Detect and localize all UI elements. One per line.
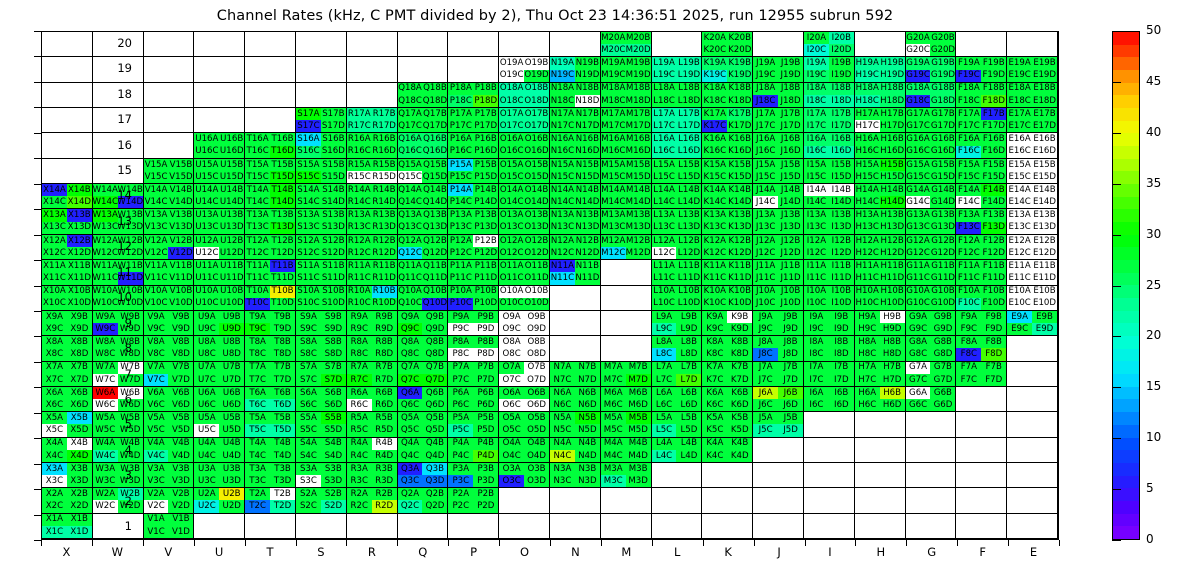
pmt-quadrant[interactable]: P10C — [448, 298, 473, 310]
pmt-quadrant[interactable]: X3B — [67, 463, 92, 475]
pmt-cell[interactable]: H17AH17BH17CH17D — [855, 108, 906, 133]
pmt-quadrant[interactable]: Q17D — [422, 120, 447, 132]
pmt-quadrant[interactable]: F9D — [981, 323, 1006, 335]
pmt-quadrant[interactable]: S14B — [321, 184, 346, 196]
pmt-quadrant[interactable]: H6D — [880, 399, 905, 411]
pmt-quadrant[interactable]: Q11B — [422, 260, 447, 272]
pmt-quadrant[interactable]: J14B — [778, 184, 803, 196]
pmt-quadrant[interactable]: O13D — [524, 222, 549, 234]
pmt-quadrant[interactable]: X9B — [67, 311, 92, 323]
pmt-quadrant[interactable]: X6C — [42, 399, 67, 411]
pmt-quadrant[interactable]: V11A — [144, 260, 169, 272]
pmt-cell[interactable]: O17AO17BO17CO17D — [499, 108, 550, 133]
pmt-quadrant[interactable]: G7A — [906, 362, 931, 374]
pmt-quadrant[interactable]: X8C — [42, 348, 67, 360]
pmt-quadrant[interactable]: N5C — [550, 424, 575, 436]
pmt-quadrant[interactable]: S3A — [296, 463, 321, 475]
pmt-quadrant[interactable]: M6B — [626, 387, 651, 399]
pmt-quadrant[interactable]: X10A — [42, 286, 67, 298]
pmt-quadrant[interactable]: J11C — [753, 272, 778, 284]
pmt-cell[interactable]: J14AJ14BJ14CJ14D — [753, 184, 804, 209]
pmt-quadrant[interactable]: T9C — [245, 323, 270, 335]
pmt-quadrant[interactable]: K17B — [727, 108, 752, 120]
pmt-quadrant[interactable]: K4C — [702, 450, 727, 462]
pmt-quadrant[interactable]: M13A — [601, 209, 626, 221]
pmt-cell[interactable]: O13AO13BO13CO13D — [499, 209, 550, 234]
pmt-cell[interactable]: S10AS10BS10CS10D — [296, 286, 347, 311]
pmt-quadrant[interactable]: I12C — [804, 247, 829, 259]
pmt-quadrant[interactable]: N12D — [575, 247, 600, 259]
pmt-quadrant[interactable]: E13C — [1007, 222, 1032, 234]
pmt-quadrant[interactable]: N18C — [550, 95, 575, 107]
pmt-quadrant[interactable]: M14B — [626, 184, 651, 196]
pmt-quadrant[interactable]: G14A — [906, 184, 931, 196]
pmt-quadrant[interactable]: R12B — [372, 235, 397, 247]
pmt-quadrant[interactable]: E13A — [1007, 209, 1032, 221]
pmt-cell[interactable]: L17AL17BL17CL17D — [652, 108, 703, 133]
pmt-quadrant[interactable]: F13B — [981, 209, 1006, 221]
pmt-quadrant[interactable]: L11A — [652, 260, 677, 272]
pmt-quadrant[interactable]: M15A — [601, 159, 626, 171]
pmt-quadrant[interactable]: U16C — [194, 146, 219, 158]
pmt-cell[interactable]: F12AF12BF12CF12D — [956, 235, 1007, 260]
pmt-cell[interactable]: P11AP11BP11CP11D — [448, 260, 499, 285]
pmt-quadrant[interactable]: U7C — [194, 374, 219, 386]
pmt-quadrant[interactable]: E15B — [1032, 159, 1057, 171]
pmt-cell[interactable]: S7AS7BS7CS7D — [296, 362, 347, 387]
pmt-quadrant[interactable]: J18A — [753, 83, 778, 95]
pmt-cell[interactable]: R11AR11BR11CR11D — [347, 260, 398, 285]
pmt-quadrant[interactable]: E9A — [1007, 311, 1032, 323]
pmt-cell[interactable]: M19AM19BM19CM19D — [601, 57, 652, 82]
pmt-quadrant[interactable]: K9B — [727, 311, 752, 323]
pmt-quadrant[interactable]: S6D — [321, 399, 346, 411]
pmt-quadrant[interactable]: T11B — [270, 260, 295, 272]
pmt-quadrant[interactable]: S6B — [321, 387, 346, 399]
pmt-cell[interactable]: U16AU16BU16CU16D — [194, 133, 245, 158]
pmt-quadrant[interactable]: I20C — [804, 44, 829, 56]
pmt-quadrant[interactable]: M20D — [626, 44, 651, 56]
pmt-quadrant[interactable]: P3C — [448, 475, 473, 487]
pmt-quadrant[interactable]: L14B — [676, 184, 701, 196]
pmt-quadrant[interactable]: G8B — [930, 336, 955, 348]
pmt-quadrant[interactable]: F17B — [981, 108, 1006, 120]
pmt-quadrant[interactable]: F7A — [956, 362, 981, 374]
pmt-quadrant[interactable]: V8C — [144, 348, 169, 360]
pmt-quadrant[interactable]: R13D — [372, 222, 397, 234]
pmt-quadrant[interactable]: R16B — [372, 133, 397, 145]
pmt-cell[interactable]: O8AO8BO8CO8D — [499, 336, 550, 361]
pmt-quadrant[interactable]: R6C — [347, 399, 372, 411]
pmt-quadrant[interactable]: V12C — [144, 247, 169, 259]
pmt-quadrant[interactable]: G10B — [930, 286, 955, 298]
pmt-quadrant[interactable]: X1D — [67, 526, 92, 538]
pmt-quadrant[interactable]: K4B — [727, 438, 752, 450]
pmt-quadrant[interactable]: M17D — [626, 120, 651, 132]
pmt-cell[interactable]: L10AL10BL10CL10D — [652, 286, 703, 311]
pmt-quadrant[interactable]: J14C — [753, 196, 778, 208]
pmt-cell[interactable]: L5AL5BL5CL5D — [652, 412, 703, 437]
pmt-cell[interactable]: V7AV7BV7CV7D — [144, 362, 195, 387]
pmt-quadrant[interactable]: E9D — [1032, 323, 1057, 335]
pmt-quadrant[interactable]: H8A — [855, 336, 880, 348]
pmt-quadrant[interactable]: M7D — [626, 374, 651, 386]
pmt-cell[interactable]: T13AT13BT13CT13D — [245, 209, 296, 234]
pmt-quadrant[interactable]: I15D — [829, 171, 854, 183]
pmt-quadrant[interactable]: V11C — [144, 272, 169, 284]
pmt-quadrant[interactable]: R3D — [372, 475, 397, 487]
pmt-quadrant[interactable]: N19D — [575, 70, 600, 82]
pmt-quadrant[interactable]: K12C — [702, 247, 727, 259]
pmt-cell[interactable]: H19AH19BH19CH19D — [855, 57, 906, 82]
pmt-quadrant[interactable]: X7A — [42, 362, 67, 374]
pmt-quadrant[interactable]: P8A — [448, 336, 473, 348]
pmt-cell[interactable]: L9AL9BL9CL9D — [652, 311, 703, 336]
pmt-cell[interactable]: I12AI12BI12CI12D — [804, 235, 855, 260]
pmt-cell[interactable]: Q9AQ9BQ9CQ9D — [398, 311, 449, 336]
pmt-quadrant[interactable]: U8A — [194, 336, 219, 348]
pmt-quadrant[interactable]: P2B — [473, 488, 498, 500]
pmt-quadrant[interactable]: J6B — [778, 387, 803, 399]
pmt-quadrant[interactable]: L4D — [676, 450, 701, 462]
pmt-quadrant[interactable]: V4C — [144, 450, 169, 462]
pmt-quadrant[interactable]: T13D — [270, 222, 295, 234]
pmt-quadrant[interactable]: E12B — [1032, 235, 1057, 247]
pmt-quadrant[interactable]: U14D — [219, 196, 244, 208]
pmt-cell[interactable]: T9AT9BT9CT9D — [245, 311, 296, 336]
pmt-quadrant[interactable]: K14A — [702, 184, 727, 196]
pmt-quadrant[interactable]: O10D — [524, 298, 549, 310]
pmt-quadrant[interactable]: K15C — [702, 171, 727, 183]
pmt-cell[interactable]: V8AV8BV8CV8D — [144, 336, 195, 361]
pmt-quadrant[interactable]: P14B — [473, 184, 498, 196]
pmt-quadrant[interactable]: S12C — [296, 247, 321, 259]
pmt-quadrant[interactable]: S6C — [296, 399, 321, 411]
pmt-cell[interactable]: H6AH6BH6CH6D — [855, 387, 906, 412]
pmt-quadrant[interactable]: X6B — [67, 387, 92, 399]
pmt-quadrant[interactable]: F14C — [956, 196, 981, 208]
pmt-quadrant[interactable]: M13B — [626, 209, 651, 221]
pmt-quadrant[interactable]: M6C — [601, 399, 626, 411]
pmt-quadrant[interactable]: T13A — [245, 209, 270, 221]
pmt-quadrant[interactable]: N4D — [575, 450, 600, 462]
pmt-quadrant[interactable]: V6D — [168, 399, 193, 411]
pmt-quadrant[interactable]: O4A — [499, 438, 524, 450]
pmt-quadrant[interactable]: X5B — [67, 412, 92, 424]
pmt-quadrant[interactable]: R11B — [372, 260, 397, 272]
pmt-cell[interactable]: X3AX3BX3CX3D — [42, 463, 93, 488]
pmt-quadrant[interactable]: M12D — [626, 247, 651, 259]
pmt-quadrant[interactable]: T8D — [270, 348, 295, 360]
pmt-quadrant[interactable]: P3B — [473, 463, 498, 475]
pmt-quadrant[interactable]: L11B — [676, 260, 701, 272]
pmt-quadrant[interactable]: X9D — [67, 323, 92, 335]
pmt-quadrant[interactable]: J7A — [753, 362, 778, 374]
pmt-quadrant[interactable]: V4B — [168, 438, 193, 450]
pmt-cell[interactable]: Q4AQ4BQ4CQ4D — [398, 438, 449, 463]
pmt-quadrant[interactable]: N14C — [550, 196, 575, 208]
pmt-quadrant[interactable]: Q9B — [422, 311, 447, 323]
pmt-cell[interactable]: S6AS6BS6CS6D — [296, 387, 347, 412]
pmt-quadrant[interactable]: P5B — [473, 412, 498, 424]
pmt-cell[interactable]: V15AV15BV15CV15D — [144, 159, 195, 184]
pmt-quadrant[interactable]: O17C — [499, 120, 524, 132]
pmt-cell[interactable]: Q18AQ18BQ18CQ18D — [398, 83, 449, 108]
pmt-quadrant[interactable]: H11C — [855, 272, 880, 284]
pmt-quadrant[interactable]: I19D — [829, 70, 854, 82]
pmt-quadrant[interactable]: P6A — [448, 387, 473, 399]
pmt-quadrant[interactable]: K15B — [727, 159, 752, 171]
pmt-quadrant[interactable]: U5B — [219, 412, 244, 424]
pmt-quadrant[interactable]: T5A — [245, 412, 270, 424]
pmt-quadrant[interactable]: L7A — [652, 362, 677, 374]
pmt-quadrant[interactable]: Q3B — [422, 463, 447, 475]
pmt-quadrant[interactable]: F13A — [956, 209, 981, 221]
pmt-cell[interactable]: E12AE12BE12CE12D — [1007, 235, 1058, 260]
pmt-quadrant[interactable]: T6B — [270, 387, 295, 399]
pmt-quadrant[interactable]: L15A — [652, 159, 677, 171]
pmt-quadrant[interactable]: R16C — [347, 146, 372, 158]
pmt-quadrant[interactable]: U14A — [194, 184, 219, 196]
pmt-quadrant[interactable]: O11B — [524, 260, 549, 272]
pmt-quadrant[interactable]: L8C — [652, 348, 677, 360]
pmt-quadrant[interactable]: F19D — [981, 70, 1006, 82]
pmt-quadrant[interactable]: Q4A — [398, 438, 423, 450]
pmt-quadrant[interactable]: S15A — [296, 159, 321, 171]
pmt-quadrant[interactable]: L6A — [652, 387, 677, 399]
pmt-quadrant[interactable]: V13C — [144, 222, 169, 234]
pmt-quadrant[interactable]: P6D — [473, 399, 498, 411]
pmt-quadrant[interactable]: E12D — [1032, 247, 1057, 259]
pmt-quadrant[interactable]: E11D — [1032, 272, 1057, 284]
pmt-quadrant[interactable]: Q15C — [398, 171, 423, 183]
pmt-quadrant[interactable]: L7D — [676, 374, 701, 386]
pmt-quadrant[interactable]: R7C — [347, 374, 372, 386]
pmt-cell[interactable]: G7AG7BG7CG7D — [906, 362, 957, 387]
pmt-quadrant[interactable]: Q10B — [422, 286, 447, 298]
pmt-quadrant[interactable]: K9C — [702, 323, 727, 335]
pmt-quadrant[interactable]: N17C — [550, 120, 575, 132]
pmt-quadrant[interactable]: M4C — [601, 450, 626, 462]
pmt-quadrant[interactable]: I14C — [804, 196, 829, 208]
pmt-quadrant[interactable]: U15C — [194, 171, 219, 183]
pmt-quadrant[interactable]: O6A — [499, 387, 524, 399]
pmt-quadrant[interactable]: K5B — [727, 412, 752, 424]
pmt-quadrant[interactable]: P7A — [448, 362, 473, 374]
pmt-cell[interactable]: G18AG18BG18CG18D — [906, 83, 957, 108]
pmt-quadrant[interactable]: P9C — [448, 323, 473, 335]
pmt-quadrant[interactable]: T16B — [270, 133, 295, 145]
pmt-quadrant[interactable]: N5A — [550, 412, 575, 424]
pmt-quadrant[interactable]: G13D — [930, 222, 955, 234]
pmt-quadrant[interactable]: K20B — [727, 32, 752, 44]
pmt-quadrant[interactable]: L19C — [652, 70, 677, 82]
pmt-quadrant[interactable]: J17D — [778, 120, 803, 132]
pmt-quadrant[interactable]: L17D — [676, 120, 701, 132]
pmt-quadrant[interactable]: J18D — [778, 95, 803, 107]
pmt-quadrant[interactable]: X3C — [42, 475, 67, 487]
pmt-quadrant[interactable]: I18D — [829, 95, 854, 107]
pmt-quadrant[interactable]: R10A — [347, 286, 372, 298]
pmt-quadrant[interactable]: O12D — [524, 247, 549, 259]
pmt-quadrant[interactable]: F19A — [956, 57, 981, 69]
pmt-quadrant[interactable]: H14B — [880, 184, 905, 196]
pmt-cell[interactable]: I15AI15BI15CI15D — [804, 159, 855, 184]
pmt-quadrant[interactable]: K14D — [727, 196, 752, 208]
pmt-quadrant[interactable]: O5C — [499, 424, 524, 436]
pmt-quadrant[interactable]: F18A — [956, 83, 981, 95]
pmt-quadrant[interactable]: I14D — [829, 196, 854, 208]
pmt-quadrant[interactable]: Q9A — [398, 311, 423, 323]
pmt-cell[interactable]: T10AT10BT10CT10D — [245, 286, 296, 311]
pmt-quadrant[interactable]: T11A — [245, 260, 270, 272]
pmt-quadrant[interactable]: L5C — [652, 424, 677, 436]
pmt-quadrant[interactable]: Q7A — [398, 362, 423, 374]
pmt-quadrant[interactable]: H14A — [855, 184, 880, 196]
pmt-quadrant[interactable]: L16A — [652, 133, 677, 145]
pmt-quadrant[interactable]: N3D — [575, 475, 600, 487]
pmt-quadrant[interactable]: J6A — [753, 387, 778, 399]
pmt-quadrant[interactable]: S5B — [321, 412, 346, 424]
pmt-quadrant[interactable]: G15A — [906, 159, 931, 171]
pmt-quadrant[interactable]: J17C — [753, 120, 778, 132]
pmt-quadrant[interactable]: N17D — [575, 120, 600, 132]
pmt-quadrant[interactable]: K5A — [702, 412, 727, 424]
pmt-quadrant[interactable]: K6B — [727, 387, 752, 399]
pmt-quadrant[interactable]: U4D — [219, 450, 244, 462]
pmt-cell[interactable]: S3AS3BS3CS3D — [296, 463, 347, 488]
pmt-cell[interactable]: G17AG17BG17CG17D — [906, 108, 957, 133]
pmt-quadrant[interactable]: R12C — [347, 247, 372, 259]
pmt-quadrant[interactable]: S16D — [321, 146, 346, 158]
pmt-quadrant[interactable]: P12C — [448, 247, 473, 259]
pmt-quadrant[interactable]: V12A — [144, 235, 169, 247]
pmt-quadrant[interactable]: T7B — [270, 362, 295, 374]
pmt-quadrant[interactable]: Q11D — [422, 272, 447, 284]
pmt-quadrant[interactable]: Q12D — [422, 247, 447, 259]
pmt-quadrant[interactable]: F17C — [956, 120, 981, 132]
pmt-quadrant[interactable]: P8B — [473, 336, 498, 348]
pmt-quadrant[interactable]: Q4D — [422, 450, 447, 462]
pmt-quadrant[interactable]: V4A — [144, 438, 169, 450]
pmt-quadrant[interactable]: R17B — [372, 108, 397, 120]
pmt-cell[interactable]: M17AM17BM17CM17D — [601, 108, 652, 133]
pmt-quadrant[interactable]: K8C — [702, 348, 727, 360]
pmt-quadrant[interactable]: J11A — [753, 260, 778, 272]
pmt-quadrant[interactable]: N16A — [550, 133, 575, 145]
pmt-quadrant[interactable]: H12A — [855, 235, 880, 247]
pmt-quadrant[interactable]: X2D — [67, 500, 92, 512]
pmt-quadrant[interactable]: P7B — [473, 362, 498, 374]
pmt-quadrant[interactable]: M3D — [626, 475, 651, 487]
pmt-quadrant[interactable]: Q6A — [398, 387, 423, 399]
pmt-quadrant[interactable]: M14C — [601, 196, 626, 208]
pmt-quadrant[interactable]: S17D — [321, 120, 346, 132]
pmt-quadrant[interactable]: M7B — [626, 362, 651, 374]
pmt-quadrant[interactable]: N15D — [575, 171, 600, 183]
pmt-quadrant[interactable]: M16B — [626, 133, 651, 145]
pmt-quadrant[interactable]: G16B — [930, 133, 955, 145]
pmt-quadrant[interactable]: F18D — [981, 95, 1006, 107]
pmt-quadrant[interactable]: J12B — [778, 235, 803, 247]
pmt-cell[interactable]: O16AO16BO16CO16D — [499, 133, 550, 158]
pmt-quadrant[interactable]: O4C — [499, 450, 524, 462]
pmt-quadrant[interactable]: S13A — [296, 209, 321, 221]
pmt-quadrant[interactable]: U16D — [219, 146, 244, 158]
pmt-cell[interactable]: V2AV2BV2CV2D — [144, 488, 195, 513]
pmt-quadrant[interactable]: O17A — [499, 108, 524, 120]
pmt-quadrant[interactable]: J8A — [753, 336, 778, 348]
pmt-quadrant[interactable]: F16A — [956, 133, 981, 145]
pmt-cell[interactable]: O18AO18BO18CO18D — [499, 83, 550, 108]
pmt-quadrant[interactable]: Q6D — [422, 399, 447, 411]
pmt-quadrant[interactable]: Q16C — [398, 146, 423, 158]
pmt-quadrant[interactable]: V1C — [144, 526, 169, 538]
pmt-cell[interactable]: U8AU8BU8CU8D — [194, 336, 245, 361]
pmt-quadrant[interactable]: H16A — [855, 133, 880, 145]
pmt-cell[interactable]: O14AO14BO14CO14D — [499, 184, 550, 209]
pmt-quadrant[interactable]: X13B — [67, 209, 92, 221]
pmt-quadrant[interactable]: Q5C — [398, 424, 423, 436]
pmt-quadrant[interactable]: T11D — [270, 272, 295, 284]
pmt-quadrant[interactable]: N11B — [575, 260, 600, 272]
pmt-quadrant[interactable]: I6A — [804, 387, 829, 399]
pmt-quadrant[interactable]: O3C — [499, 475, 524, 487]
pmt-quadrant[interactable]: V13A — [144, 209, 169, 221]
pmt-cell[interactable]: E14AE14BE14CE14D — [1007, 184, 1058, 209]
pmt-quadrant[interactable]: U12C — [194, 247, 219, 259]
pmt-cell[interactable]: F16AF16BF16CF16D — [956, 133, 1007, 158]
pmt-cell[interactable]: M7AM7BM7CM7D — [601, 362, 652, 387]
pmt-quadrant[interactable]: S8A — [296, 336, 321, 348]
pmt-quadrant[interactable]: O8A — [499, 336, 524, 348]
pmt-cell[interactable]: G15AG15BG15CG15D — [906, 159, 957, 184]
pmt-quadrant[interactable]: H16B — [880, 133, 905, 145]
pmt-quadrant[interactable]: S10D — [321, 298, 346, 310]
pmt-quadrant[interactable]: R13A — [347, 209, 372, 221]
pmt-quadrant[interactable]: J10B — [778, 286, 803, 298]
pmt-quadrant[interactable]: I16C — [804, 146, 829, 158]
pmt-quadrant[interactable]: L4A — [652, 438, 677, 450]
pmt-quadrant[interactable]: P15A — [448, 159, 473, 171]
pmt-quadrant[interactable]: P3A — [448, 463, 473, 475]
pmt-quadrant[interactable]: P11D — [473, 272, 498, 284]
pmt-quadrant[interactable]: K14C — [702, 196, 727, 208]
pmt-quadrant[interactable]: R4D — [372, 450, 397, 462]
pmt-quadrant[interactable]: V9B — [168, 311, 193, 323]
pmt-quadrant[interactable]: S2C — [296, 500, 321, 512]
pmt-quadrant[interactable]: F11A — [956, 260, 981, 272]
pmt-quadrant[interactable]: N11C — [550, 272, 575, 284]
pmt-quadrant[interactable]: P11A — [448, 260, 473, 272]
pmt-cell[interactable]: U6AU6BU6CU6D — [194, 387, 245, 412]
pmt-quadrant[interactable]: I11D — [829, 272, 854, 284]
pmt-quadrant[interactable]: U7A — [194, 362, 219, 374]
pmt-quadrant[interactable]: G9A — [906, 311, 931, 323]
pmt-cell[interactable]: M12AM12BM12CM12D — [601, 235, 652, 260]
pmt-quadrant[interactable]: I7D — [829, 374, 854, 386]
pmt-cell[interactable]: Q8AQ8BQ8CQ8D — [398, 336, 449, 361]
pmt-quadrant[interactable]: X2B — [67, 488, 92, 500]
pmt-quadrant[interactable]: N18A — [550, 83, 575, 95]
pmt-quadrant[interactable]: H19C — [855, 70, 880, 82]
pmt-cell[interactable]: S14AS14BS14CS14D — [296, 184, 347, 209]
pmt-quadrant[interactable]: U2B — [219, 488, 244, 500]
pmt-quadrant[interactable]: Q7C — [398, 374, 423, 386]
pmt-quadrant[interactable]: Q14A — [398, 184, 423, 196]
pmt-quadrant[interactable]: E16A — [1007, 133, 1032, 145]
pmt-quadrant[interactable]: H8C — [855, 348, 880, 360]
